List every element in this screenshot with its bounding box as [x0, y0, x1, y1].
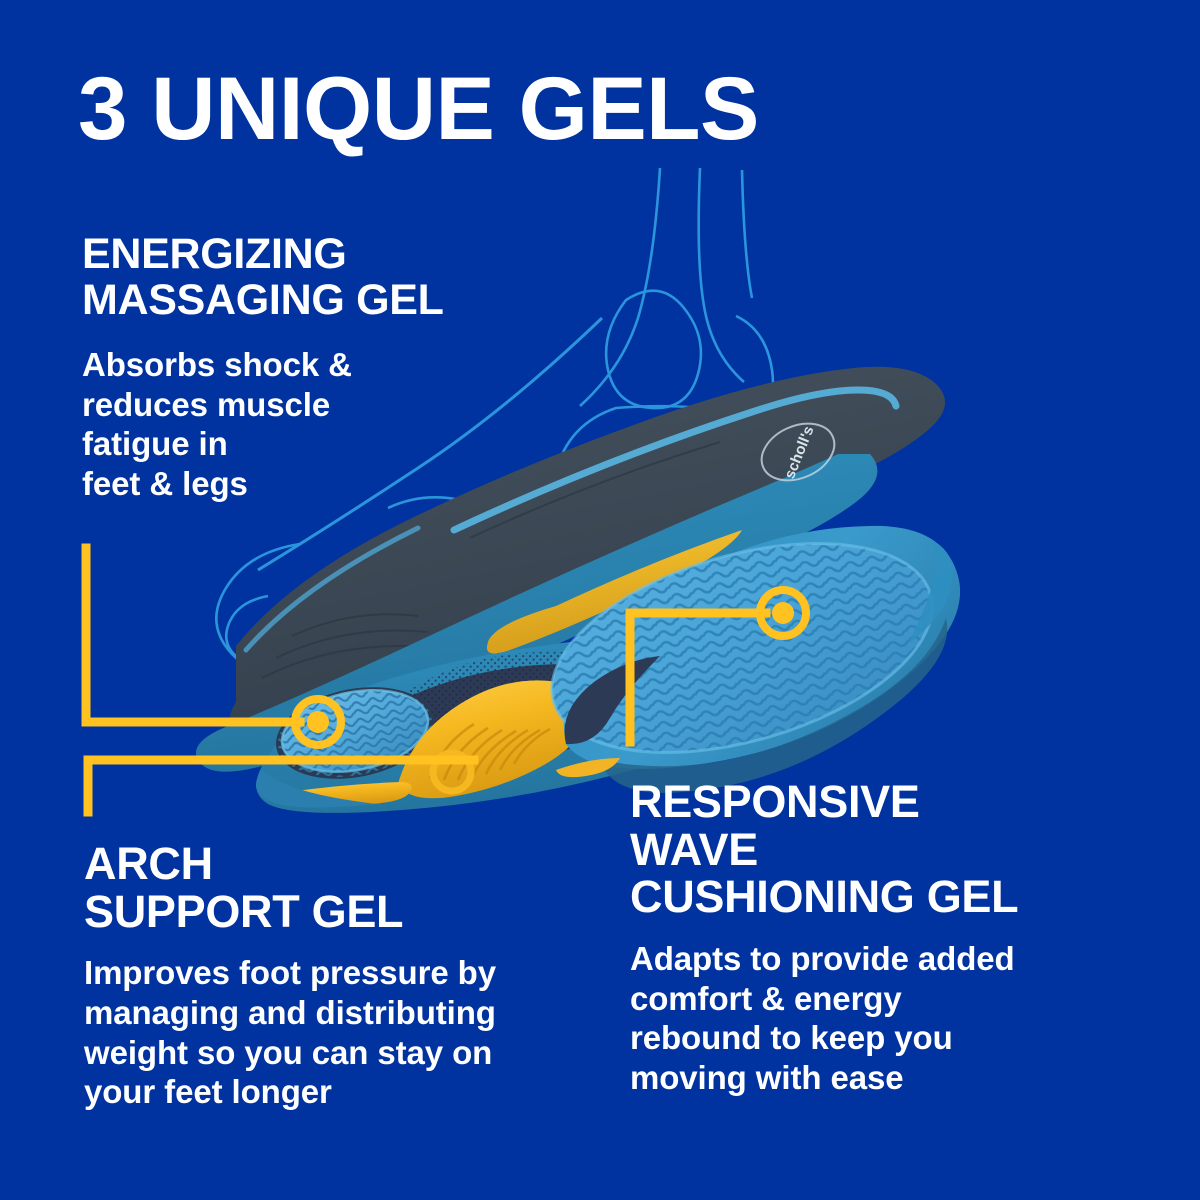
callout-body-line: fatigue in	[82, 424, 587, 464]
callout-body-line: Improves foot pressure by	[84, 953, 584, 993]
callout-energizing-massaging-gel: ENERGIZING MASSAGING GEL Absorbs shock &…	[82, 232, 587, 504]
callout-body-line: weight so you can stay on	[84, 1033, 584, 1073]
callout-heading: ARCH SUPPORT GEL	[84, 840, 584, 935]
callout-body: Adapts to provide added comfort & energy…	[630, 939, 1135, 1097]
page-title: 3 UNIQUE GELS	[78, 64, 759, 153]
callout-heading-line: MASSAGING GEL	[82, 278, 587, 324]
callout-heading: ENERGIZING MASSAGING GEL	[82, 232, 587, 323]
callout-body-line: your feet longer	[84, 1072, 584, 1112]
callout-heading-line: WAVE	[630, 826, 1135, 874]
callout-body-line: feet & legs	[82, 464, 587, 504]
callout-heading: RESPONSIVE WAVE CUSHIONING GEL	[630, 778, 1135, 921]
callout-heading-line: SUPPORT GEL	[84, 888, 584, 936]
callout-body-line: comfort & energy	[630, 979, 1135, 1019]
callout-body-line: Adapts to provide added	[630, 939, 1135, 979]
callout-arch-support-gel: ARCH SUPPORT GEL Improves foot pressure …	[84, 840, 584, 1112]
callout-body-line: reduces muscle	[82, 385, 587, 425]
callout-heading-line: RESPONSIVE	[630, 778, 1135, 826]
callout-body-line: managing and distributing	[84, 993, 584, 1033]
infographic-canvas: scholl's	[0, 0, 1200, 1200]
leader-line-massaging-gel	[86, 548, 300, 722]
leader-line-wave-cushioning	[630, 613, 766, 742]
callout-body: Improves foot pressure by managing and d…	[84, 953, 584, 1111]
callout-body-line: Absorbs shock &	[82, 345, 587, 385]
callout-body: Absorbs shock & reduces muscle fatigue i…	[82, 345, 587, 503]
callout-heading-line: CUSHIONING GEL	[630, 873, 1135, 921]
callout-heading-line: ARCH	[84, 840, 584, 888]
callout-responsive-wave-cushioning-gel: RESPONSIVE WAVE CUSHIONING GEL Adapts to…	[630, 778, 1135, 1097]
callout-body-line: moving with ease	[630, 1058, 1135, 1098]
callout-body-line: rebound to keep you	[630, 1018, 1135, 1058]
callout-heading-line: ENERGIZING	[82, 232, 587, 278]
